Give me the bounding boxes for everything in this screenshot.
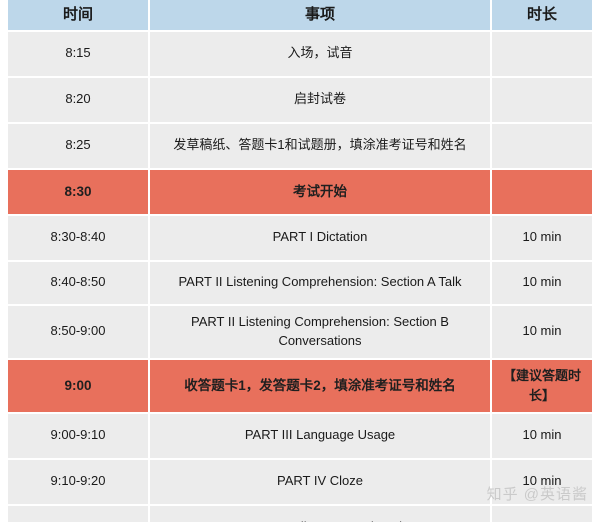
cell-duration [492,506,592,522]
table-row: 8:30-8:40 PART I Dictation 10 min [8,216,592,262]
cell-item: PART IV Cloze [150,460,492,506]
cell-time: 9:20-9:55 [8,506,150,522]
cell-duration [492,78,592,124]
cell-time: 8:30 [8,170,150,216]
cell-time: 9:00 [8,360,150,414]
cell-time: 8:40-8:50 [8,262,150,306]
cell-item: PART II Listening Comprehension: Section… [150,262,492,306]
cell-item: 发草稿纸、答题卡1和试题册，填涂准考证号和姓名 [150,124,492,170]
cell-item: PART I Dictation [150,216,492,262]
cell-time: 8:25 [8,124,150,170]
cell-time: 8:30-8:40 [8,216,150,262]
column-header-time: 时间 [8,0,150,32]
table-row: 8:40-8:50 PART II Listening Comprehensio… [8,262,592,306]
cell-duration: 10 min [492,460,592,506]
column-header-item: 事项 [150,0,492,32]
cell-item: 启封试卷 [150,78,492,124]
table-header-row: 时间 事项 时长 [8,0,592,32]
table-row: 8:20 启封试卷 [8,78,592,124]
cell-time: 8:15 [8,32,150,78]
table-row-highlighted: 9:00 收答题卡1，发答题卡2，填涂准考证号和姓名 【建议答题时长】 [8,360,592,414]
cell-item: PART II Listening Comprehension: Section… [150,306,492,360]
cell-duration: 10 min [492,216,592,262]
cell-time: 9:10-9:20 [8,460,150,506]
cell-duration: 10 min [492,306,592,360]
column-header-duration: 时长 [492,0,592,32]
cell-time: 8:50-9:00 [8,306,150,360]
exam-schedule-table: 时间 事项 时长 8:15 入场，试音 8:20 启封试卷 8:25 发草稿纸、… [8,0,592,522]
cell-duration: 10 min [492,262,592,306]
table-row: 9:00-9:10 PART III Language Usage 10 min [8,414,592,460]
table-row: 8:50-9:00 PART II Listening Comprehensio… [8,306,592,360]
table-row: 8:25 发草稿纸、答题卡1和试题册，填涂准考证号和姓名 [8,124,592,170]
table-row: 9:10-9:20 PART IV Cloze 10 min [8,460,592,506]
cell-time: 8:20 [8,78,150,124]
cell-item: PART V Reading Comprehension [150,506,492,522]
cell-item: 考试开始 [150,170,492,216]
table-row: 8:15 入场，试音 [8,32,592,78]
cell-duration: 10 min [492,414,592,460]
cell-time: 9:00-9:10 [8,414,150,460]
cell-item: 入场，试音 [150,32,492,78]
table-row-highlighted: 8:30 考试开始 [8,170,592,216]
cell-duration [492,32,592,78]
cell-item: 收答题卡1，发答题卡2，填涂准考证号和姓名 [150,360,492,414]
cell-duration: 【建议答题时长】 [492,360,592,414]
table-row: 9:20-9:55 PART V Reading Comprehension [8,506,592,522]
cell-duration [492,124,592,170]
schedule-table-container: 时间 事项 时长 8:15 入场，试音 8:20 启封试卷 8:25 发草稿纸、… [8,0,592,522]
cell-item: PART III Language Usage [150,414,492,460]
table-body: 8:15 入场，试音 8:20 启封试卷 8:25 发草稿纸、答题卡1和试题册，… [8,32,592,522]
cell-duration [492,170,592,216]
table-header: 时间 事项 时长 [8,0,592,32]
